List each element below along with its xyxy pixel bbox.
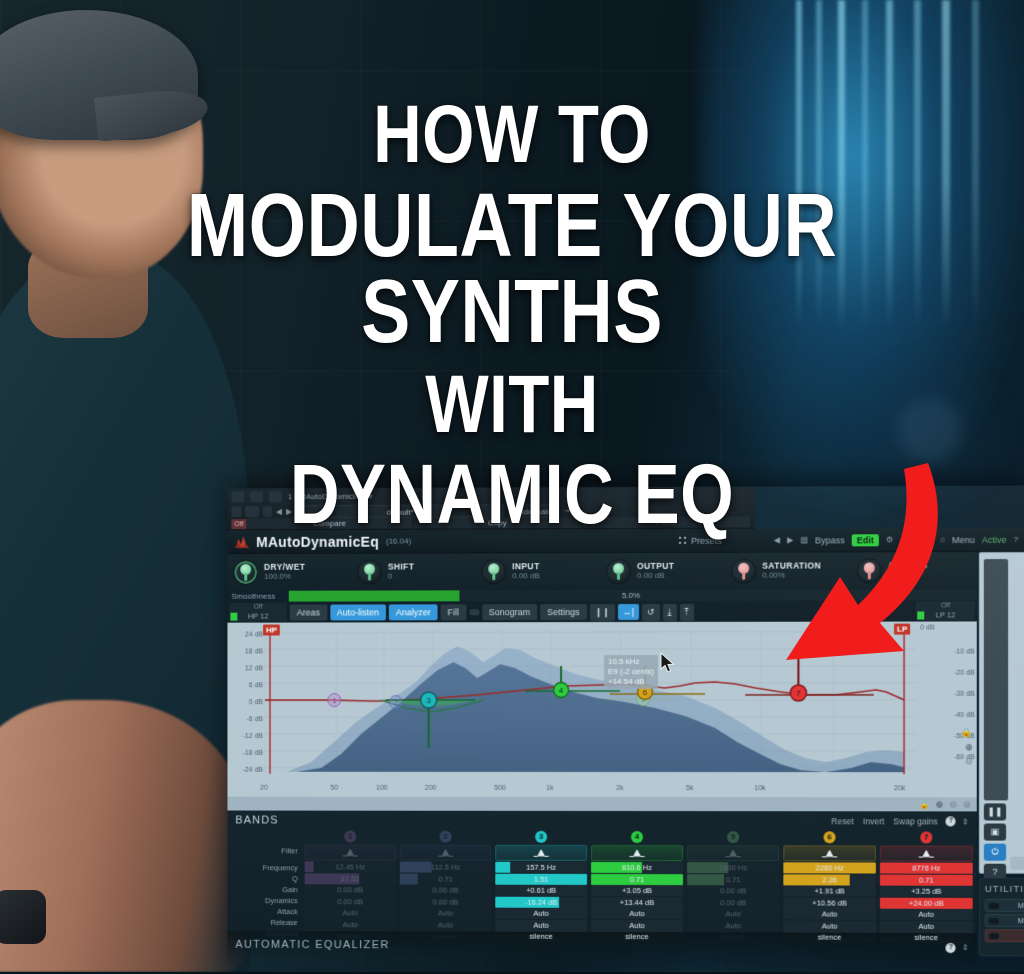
mod-1-label: Mod 1 bbox=[999, 901, 1024, 910]
swap-gains-button[interactable]: Swap gains bbox=[893, 816, 937, 826]
db-label: 18 dB bbox=[229, 643, 263, 660]
band-3-frequency-value: 157.5 Hz bbox=[526, 863, 556, 872]
band-4-number[interactable]: 4 bbox=[631, 831, 643, 843]
band-5-gain[interactable]: 0.00 dB bbox=[687, 885, 779, 896]
band-5-frequency-value: 1500 Hz bbox=[719, 863, 747, 872]
knob-cell-input[interactable]: INPUT 0.00 dB bbox=[475, 559, 600, 584]
band-5-dynamics[interactable]: 0.00 dB bbox=[687, 897, 779, 908]
band-2-dynamics[interactable]: 0.00 dB bbox=[400, 896, 491, 907]
tooltip-frequency: 10.5 kHz bbox=[608, 657, 654, 667]
sidechain-button[interactable]: Sidechain bbox=[509, 504, 560, 517]
lock-toggle[interactable] bbox=[989, 933, 999, 939]
db-label: -6 dB bbox=[229, 711, 263, 728]
row-label-frequency: Frequency bbox=[229, 862, 302, 873]
highpass-slope[interactable]: HP 12 bbox=[229, 612, 286, 622]
band-1-release[interactable]: Auto bbox=[305, 919, 396, 930]
automation-off-badge[interactable]: Off bbox=[231, 519, 246, 530]
band-2-attack[interactable]: Auto bbox=[400, 907, 491, 918]
hp-badge[interactable]: HP bbox=[263, 625, 280, 636]
utilities-header: UTILITIES Map ? ⇕ bbox=[985, 883, 1024, 897]
band-7-gain-value: +3.25 dB bbox=[911, 887, 942, 896]
band-3-number[interactable]: 3 bbox=[535, 831, 547, 843]
lowpass-control[interactable]: Off LP 12 bbox=[916, 601, 975, 621]
grid-icon bbox=[678, 536, 687, 545]
db-label: -10 dB bbox=[944, 642, 974, 663]
input-label: INPUT bbox=[512, 562, 539, 572]
band-4-release-value: Auto bbox=[629, 921, 644, 930]
shift-value: 0 bbox=[388, 572, 414, 581]
band-column-7[interactable]: 78776 Hz0.71+3.25 dB+24.00 dBAutoAutosil… bbox=[878, 831, 975, 943]
right-scale-0db: 0 dB bbox=[920, 625, 935, 632]
presets-label: Presets bbox=[691, 535, 722, 545]
analyzer-button[interactable]: Analyzer bbox=[389, 604, 438, 620]
band-2-number[interactable]: 2 bbox=[440, 831, 452, 843]
db-label: -18 dB bbox=[229, 745, 263, 762]
band-column-5[interactable]: 51500 Hz0.710.00 dB0.00 dBAutoAutosilenc… bbox=[685, 831, 781, 943]
compare-button[interactable]: Compare bbox=[246, 518, 413, 530]
bands-panel: BANDS Reset Invert Swap gains ? ⇕ Filter… bbox=[227, 811, 976, 934]
band-columns: 112.45 Hz87.530.00 dB0.00 dBAutoAutosile… bbox=[303, 831, 975, 944]
freq-label: 5k bbox=[686, 785, 693, 792]
input-knob[interactable] bbox=[481, 559, 506, 584]
bands-title: BANDS bbox=[235, 815, 278, 827]
saturation-value: 0.00% bbox=[762, 571, 821, 580]
lock-label: Lock bbox=[999, 931, 1024, 941]
band-4-filter-type[interactable] bbox=[591, 845, 683, 861]
active-status: Active bbox=[982, 534, 1007, 544]
meter-range-arrows-left[interactable]: ‹ › bbox=[1010, 857, 1024, 870]
band-3-release-value: Auto bbox=[533, 920, 548, 929]
db-label: 12 dB bbox=[229, 660, 263, 677]
highpass-slope-label: HP 12 bbox=[248, 612, 268, 621]
utilities-panel: UTILITIES Map ? ⇕ Mod 1 ☰ Mod 2 ☰ bbox=[979, 878, 1024, 957]
daw-track-title: 1 - MAutoDynamicEq bbox=[288, 491, 363, 500]
analyzer-settings-button[interactable]: Settings bbox=[540, 604, 586, 620]
lowpass-slope[interactable]: LP 12 bbox=[916, 610, 975, 620]
band-7-attack[interactable]: Auto bbox=[880, 909, 973, 920]
band-1-frequency[interactable]: 12.45 Hz bbox=[305, 861, 396, 872]
band-4-frequency-value: 810.6 Hz bbox=[622, 863, 652, 872]
plugin-footer: AUTOMATIC EQUALIZER ? ⇕ bbox=[227, 931, 976, 973]
bypass-button[interactable]: Bypass bbox=[815, 535, 845, 545]
analog-knob[interactable] bbox=[857, 558, 882, 583]
db-label: 24 dB bbox=[229, 627, 263, 644]
saturation-knob[interactable] bbox=[731, 558, 756, 583]
band-7-gain[interactable]: +3.25 dB bbox=[880, 886, 973, 897]
band-3-q[interactable]: 1.51 bbox=[495, 873, 587, 884]
bands-grid: Filter Frequency Q Gain Dynamics Attack … bbox=[227, 830, 976, 943]
band-column-1[interactable]: 112.45 Hz87.530.00 dB0.00 dBAutoAutosile… bbox=[303, 831, 398, 942]
band-6-frequency[interactable]: 2280 Hz bbox=[783, 862, 876, 873]
sidechain-route-icon[interactable]: ⇥| bbox=[564, 506, 573, 515]
band-1-dynamics[interactable]: 0.00 dB bbox=[305, 896, 396, 907]
plugin-version: (16.04) bbox=[386, 537, 411, 546]
band-4-q-value: 0.71 bbox=[630, 875, 645, 884]
band-5-release[interactable]: Auto bbox=[687, 920, 779, 931]
knob-cell-shift[interactable]: SHIFT 0 bbox=[351, 559, 475, 584]
svg-text:6: 6 bbox=[643, 688, 648, 697]
band-1-release-value: Auto bbox=[343, 920, 358, 929]
freq-label: 2k bbox=[616, 785, 623, 792]
band-5-dynamics-value: 0.00 dB bbox=[720, 898, 746, 907]
band-5-release-value: Auto bbox=[725, 921, 740, 930]
headphone-icon[interactable] bbox=[245, 506, 259, 517]
row-label-release: Release bbox=[229, 917, 302, 928]
areas-button[interactable]: Areas bbox=[290, 605, 327, 621]
page-icon[interactable] bbox=[263, 506, 272, 517]
band-1-filter-type[interactable] bbox=[305, 844, 396, 860]
smoothness-label: Smoothness bbox=[227, 592, 288, 601]
edit-button[interactable]: Edit bbox=[852, 534, 879, 546]
plugin-header: MAutoDynamicEq (16.04) Presets ◀ ▶ ▨ Byp… bbox=[227, 528, 1024, 554]
reset-button[interactable]: Reset bbox=[831, 816, 853, 826]
lowpass-off-label[interactable]: Off bbox=[916, 601, 975, 610]
row-label-dynamics: Dynamics bbox=[229, 895, 302, 906]
power-icon[interactable]: ⏻ bbox=[984, 844, 1006, 861]
band-6-release[interactable]: Auto bbox=[783, 920, 876, 931]
collapse-toggle-icon[interactable]: ⇕ bbox=[962, 817, 969, 826]
band-3-gain-value: +0.61 dB bbox=[526, 886, 556, 895]
band-3-attack[interactable]: Auto bbox=[495, 908, 587, 919]
footer-title: AUTOMATIC EQUALIZER bbox=[235, 939, 389, 951]
sonogram-button[interactable]: Sonogram bbox=[482, 604, 537, 620]
band-4-attack-value: Auto bbox=[629, 909, 644, 918]
input-value: 0.00 dB bbox=[512, 571, 539, 580]
band-5-filter-type[interactable] bbox=[687, 845, 779, 861]
band-3-filter-type[interactable] bbox=[495, 845, 587, 861]
mod-3-button[interactable]: Mod 3 ☰ bbox=[985, 914, 1024, 927]
lock-button[interactable]: Lock ☰ bbox=[985, 929, 1024, 943]
zoom-in-icon[interactable]: ⊕ bbox=[965, 742, 973, 753]
highpass-off-label[interactable]: Off bbox=[229, 603, 286, 612]
bands-row-labels: Filter Frequency Q Gain Dynamics Attack … bbox=[229, 830, 302, 941]
band-7-threshold-value: silence bbox=[915, 933, 939, 942]
copy-button[interactable]: Copy bbox=[414, 517, 582, 529]
dry-wet-knob[interactable] bbox=[233, 559, 258, 584]
band-3-q-value: 1.51 bbox=[534, 874, 549, 883]
back-arrow-icon[interactable] bbox=[231, 491, 244, 502]
modulator-grid: Mod 1 ☰ Mod 2 ☰ Mod 3 ☰ bbox=[985, 899, 1024, 945]
in-meter-value: -14.6 bbox=[1020, 846, 1024, 856]
shift-knob[interactable] bbox=[357, 559, 382, 584]
zoom-in-icon[interactable]: ⊕ bbox=[936, 799, 944, 810]
band-4-dynamics[interactable]: +13.44 dB bbox=[591, 896, 683, 907]
band-3-dynamics-value: -16.24 dB bbox=[525, 897, 557, 906]
band-4-gain-value: +3.05 dB bbox=[622, 886, 652, 895]
band-3-dynamics[interactable]: -16.24 dB bbox=[495, 896, 587, 907]
band-1-gain-value: 0.00 dB bbox=[337, 885, 363, 894]
db-label: -12 dB bbox=[229, 728, 263, 745]
band-column-6[interactable]: 62280 Hz2.26+1.91 dB+10.56 dBAutoAutosil… bbox=[781, 831, 878, 943]
band-7-q-value: 0.71 bbox=[919, 875, 934, 884]
band-3-release[interactable]: Auto bbox=[495, 919, 587, 930]
band-1-dynamics-value: 0.00 dB bbox=[337, 897, 363, 906]
db-label: 0 dB bbox=[229, 694, 263, 711]
plugin-title: MAutoDynamicEq bbox=[256, 533, 379, 549]
band-6-number[interactable]: 6 bbox=[824, 831, 836, 843]
band-4-gain[interactable]: +3.05 dB bbox=[591, 885, 683, 896]
utilities-arrows[interactable]: ‹ › bbox=[985, 946, 1024, 956]
highpass-control[interactable]: Off HP 12 bbox=[229, 603, 286, 623]
band-2-frequency-value: 112.5 Hz bbox=[431, 863, 460, 872]
freq-label: 100 bbox=[376, 785, 388, 792]
row-label-gain: Gain bbox=[229, 884, 302, 895]
band-column-3[interactable]: 3157.5 Hz1.51+0.61 dB-16.24 dBAutoAutosi… bbox=[493, 831, 589, 943]
dry-wet-label: DRY/WET bbox=[264, 562, 305, 572]
lp-badge[interactable]: LP bbox=[894, 624, 910, 635]
band-6-dynamics-value: +10.56 dB bbox=[812, 898, 847, 907]
gear-icon[interactable]: ⚙ bbox=[886, 535, 893, 544]
import-icon[interactable]: ⤓ bbox=[663, 603, 677, 620]
band-6-q[interactable]: 2.26 bbox=[783, 874, 876, 885]
band-1-q[interactable]: 87.53 bbox=[305, 873, 396, 884]
help-icon[interactable]: ? bbox=[1014, 535, 1019, 544]
smoothness-value: 5.0% bbox=[289, 589, 977, 601]
mouse-cursor bbox=[660, 652, 676, 674]
meter-side-buttons: ❚❚ ▣ ⏻ ? bbox=[984, 559, 1008, 867]
eq-graph[interactable]: 3 1 2 4 5 6 7 bbox=[227, 621, 976, 797]
meters-panel: ❚❚ ▣ ⏻ ? In Side Width 0 -10 -20 -30 -40… bbox=[979, 552, 1024, 875]
svg-text:2: 2 bbox=[394, 698, 398, 707]
mod-3-label: Mod 3 bbox=[999, 916, 1024, 925]
daw-host-toolbar: 1 - MAutoDynamicEq ▾ ◀ ▶ default* ▾ Side… bbox=[227, 487, 755, 531]
preset-prev-button[interactable]: ◀ bbox=[774, 536, 780, 545]
db-label: -24 dB bbox=[229, 762, 263, 779]
plugin-window: 1 - MAutoDynamicEq ▾ ◀ ▶ default* ▾ Side… bbox=[227, 486, 1024, 974]
home-icon[interactable]: ⌂ bbox=[940, 535, 945, 544]
band-7-release-value: Auto bbox=[919, 921, 935, 930]
lowpass-enable-toggle[interactable] bbox=[917, 611, 924, 619]
band-5-gain-value: 0.00 dB bbox=[720, 886, 746, 895]
knob-cell-saturation[interactable]: SATURATION 0.00% bbox=[725, 558, 851, 583]
svg-text:1: 1 bbox=[332, 696, 336, 705]
power-icon[interactable] bbox=[250, 491, 263, 502]
paste-button[interactable]: Paste bbox=[582, 517, 751, 530]
db-label: -40 dB bbox=[944, 705, 974, 726]
routing-icon[interactable] bbox=[269, 491, 282, 502]
zoom-out-icon[interactable]: ⊖ bbox=[965, 756, 973, 767]
band-7-number[interactable]: 7 bbox=[920, 831, 932, 843]
band-1-frequency-value: 12.45 Hz bbox=[335, 862, 365, 871]
light-bars bbox=[790, 0, 1024, 330]
link-icon[interactable] bbox=[231, 506, 241, 517]
band-7-q[interactable]: 0.71 bbox=[880, 874, 973, 885]
graph-zoom-bar[interactable]: 🔒 ⊕ ⊖ ⊜ bbox=[227, 797, 976, 812]
band-3-threshold-value: silence bbox=[529, 932, 552, 941]
freq-label: 20 bbox=[260, 785, 268, 792]
band-column-2[interactable]: 2112.5 Hz0.710.00 dB0.00 dBAutoAutosilen… bbox=[398, 831, 493, 942]
band-4-dynamics-value: +13.44 dB bbox=[620, 897, 654, 906]
band-1-number[interactable]: 1 bbox=[344, 831, 356, 843]
band-7-dynamics-value: +24.00 dB bbox=[909, 898, 944, 907]
left-db-scale: 24 dB 18 dB 12 dB 6 dB 0 dB -6 dB -12 dB… bbox=[229, 627, 263, 779]
mod-1-toggle[interactable] bbox=[989, 902, 999, 908]
knob-cell-dry-wet[interactable]: DRY/WET 100.0% bbox=[227, 559, 351, 584]
preset-next-button[interactable]: ▶ bbox=[787, 536, 793, 545]
pause-icon[interactable]: ❚❚ bbox=[984, 803, 1006, 820]
band-6-gain[interactable]: +1.91 dB bbox=[783, 885, 876, 896]
band-2-filter-type[interactable] bbox=[400, 845, 491, 861]
screenshot-icon[interactable]: ▣ bbox=[984, 824, 1006, 841]
dry-wet-value: 100.0% bbox=[264, 572, 305, 581]
freq-label: 20k bbox=[894, 785, 905, 792]
band-2-q-value: 0.71 bbox=[438, 874, 453, 883]
band-tooltip: 10.5 kHz E9 (-2 cents) +14.54 dB bbox=[604, 655, 658, 689]
presets-button[interactable]: Presets bbox=[678, 535, 722, 545]
db-label: 6 dB bbox=[229, 677, 263, 694]
band-4-threshold-value: silence bbox=[625, 932, 648, 941]
mod-3-toggle[interactable] bbox=[989, 918, 999, 924]
band-2-frequency[interactable]: 112.5 Hz bbox=[400, 862, 491, 873]
frequency-axis: 20 50 100 200 500 1k 2k 5k 10k 20k bbox=[227, 785, 916, 797]
invert-button[interactable]: Invert bbox=[863, 816, 884, 826]
global-knobs-strip: DRY/WET 100.0% SHIFT 0 INPUT 0.00 dB OUT… bbox=[227, 552, 976, 590]
wristwatch bbox=[0, 890, 46, 944]
band-3-frequency[interactable]: 157.5 Hz bbox=[495, 862, 587, 873]
reset-icon[interactable]: ↺ bbox=[642, 603, 660, 620]
saturation-label: SATURATION bbox=[762, 561, 821, 571]
band-6-threshold-value: silence bbox=[818, 933, 841, 942]
band-6-gain-value: +1.91 dB bbox=[814, 886, 844, 895]
prev-preset-button[interactable]: ◀ bbox=[276, 507, 282, 516]
band-4-attack[interactable]: Auto bbox=[591, 908, 683, 919]
band-1-attack-value: Auto bbox=[343, 908, 358, 917]
chevron-down-icon[interactable]: ▾ bbox=[369, 491, 373, 500]
analog-value: 0.00% bbox=[888, 571, 928, 580]
freq-label: 1k bbox=[546, 785, 553, 792]
smoothness-slider[interactable]: 5.0% bbox=[289, 589, 977, 601]
band-7-filter-type[interactable] bbox=[880, 845, 973, 861]
freq-label: 10k bbox=[754, 785, 765, 792]
meldaproduction-logo-icon bbox=[235, 535, 249, 548]
band-1-attack[interactable]: Auto bbox=[305, 907, 396, 918]
freq-label: 200 bbox=[425, 785, 437, 792]
highpass-enable-toggle[interactable] bbox=[230, 613, 237, 621]
svg-text:7: 7 bbox=[796, 689, 801, 698]
collapse-toggle-icon[interactable]: ⇕ bbox=[962, 943, 969, 952]
svg-text:3: 3 bbox=[426, 697, 431, 706]
svg-text:4: 4 bbox=[559, 686, 564, 695]
eq-graph-svg[interactable]: 3 1 2 4 5 6 7 bbox=[227, 621, 976, 797]
help-icon[interactable]: ? bbox=[946, 816, 956, 826]
settings-button[interactable]: Settings bbox=[900, 535, 933, 545]
band-1-q-value: 87.53 bbox=[341, 874, 360, 883]
band-5-q-value: 0.71 bbox=[726, 875, 741, 884]
freq-label: 500 bbox=[494, 785, 506, 792]
mod-1-button[interactable]: Mod 1 ☰ bbox=[985, 899, 1024, 912]
bands-header: BANDS Reset Invert Swap gains ? ⇕ bbox=[227, 811, 976, 832]
output-label: OUTPUT bbox=[637, 561, 674, 571]
next-preset-button[interactable]: ▶ bbox=[286, 507, 292, 516]
preset-selector[interactable]: default* ▾ bbox=[296, 504, 505, 518]
band-6-attack[interactable]: Auto bbox=[783, 908, 876, 919]
analyzer-toolbar: Off HP 12 Areas Auto-listen Analyzer Fil… bbox=[227, 601, 976, 622]
band-1-gain[interactable]: 0.00 dB bbox=[305, 884, 396, 895]
band-5-attack-value: Auto bbox=[725, 909, 740, 918]
band-5-attack[interactable]: Auto bbox=[687, 908, 779, 919]
band-4-frequency[interactable]: 810.6 Hz bbox=[591, 862, 683, 873]
band-5-frequency[interactable]: 1500 Hz bbox=[687, 862, 779, 873]
band-2-q[interactable]: 0.71 bbox=[400, 873, 491, 884]
export-icon[interactable]: ⤒ bbox=[680, 603, 694, 620]
db-label: -30 dB bbox=[944, 684, 974, 705]
fill-button[interactable]: Fill bbox=[441, 604, 466, 620]
lock-icon[interactable]: 🔒 bbox=[920, 800, 930, 809]
output-knob[interactable] bbox=[606, 558, 631, 583]
collapse-icon[interactable]: ↔| bbox=[618, 604, 639, 620]
zoom-reset-icon[interactable]: ⊜ bbox=[963, 799, 971, 810]
freq-label: 50 bbox=[330, 785, 338, 792]
utilities-title: UTILITIES bbox=[985, 884, 1024, 895]
tooltip-gain: +14.54 dB bbox=[608, 677, 654, 687]
pause-icon[interactable]: ❙❙ bbox=[590, 604, 615, 621]
zoom-out-icon[interactable]: ⊖ bbox=[949, 799, 957, 810]
band-6-frequency-value: 2280 Hz bbox=[816, 863, 844, 872]
knob-cell-analog[interactable]: ANALOG 0.00% bbox=[851, 558, 977, 583]
band-4-release[interactable]: Auto bbox=[591, 919, 683, 930]
row-label-filter: Filter bbox=[229, 845, 302, 862]
color-scheme-button[interactable] bbox=[469, 609, 479, 615]
db-label: -20 dB bbox=[944, 663, 974, 684]
meter-headers: In Side Width bbox=[1014, 555, 1024, 569]
preset-name: default* bbox=[387, 507, 414, 516]
lock-icon[interactable]: 🔒 bbox=[961, 727, 972, 738]
band-7-frequency[interactable]: 8776 Hz bbox=[880, 863, 973, 874]
band-3-gain[interactable]: +0.61 dB bbox=[495, 885, 587, 896]
meter-gr-slot bbox=[984, 559, 1008, 800]
band-2-release-value: Auto bbox=[438, 920, 453, 929]
row-label-attack: Attack bbox=[229, 906, 302, 917]
band-6-attack-value: Auto bbox=[822, 910, 838, 919]
band-7-release[interactable]: Auto bbox=[880, 920, 973, 931]
analog-label: ANALOG bbox=[888, 561, 928, 571]
help-icon[interactable]: ? bbox=[946, 943, 956, 953]
band-2-dynamics-value: 0.00 dB bbox=[433, 897, 459, 906]
band-7-attack-value: Auto bbox=[919, 910, 935, 919]
lowpass-slope-label: LP 12 bbox=[936, 610, 956, 619]
band-5-q[interactable]: 0.71 bbox=[687, 874, 779, 885]
band-7-frequency-value: 8776 Hz bbox=[912, 864, 940, 873]
band-3-attack-value: Auto bbox=[533, 909, 548, 918]
auto-listen-button[interactable]: Auto-listen bbox=[330, 604, 386, 620]
menu-button[interactable]: Menu bbox=[952, 534, 975, 544]
preset-random-icon[interactable]: ▨ bbox=[800, 535, 808, 544]
chevron-down-icon: ▾ bbox=[496, 506, 500, 519]
knob-cell-output[interactable]: OUTPUT 0.00 dB bbox=[600, 558, 725, 583]
band-4-q[interactable]: 0.71 bbox=[591, 873, 683, 884]
band-2-gain[interactable]: 0.00 dB bbox=[400, 884, 491, 895]
band-column-4[interactable]: 4810.6 Hz0.71+3.05 dB+13.44 dBAutoAutosi… bbox=[589, 831, 685, 943]
row-label-q: Q bbox=[229, 873, 302, 884]
band-6-filter-type[interactable] bbox=[783, 845, 876, 861]
output-value: 0.00 dB bbox=[637, 571, 674, 580]
band-2-attack-value: Auto bbox=[438, 908, 453, 917]
band-5-number[interactable]: 5 bbox=[727, 831, 739, 843]
band-2-gain-value: 0.00 dB bbox=[433, 886, 459, 895]
tooltip-note: E9 (-2 cents) bbox=[608, 667, 654, 677]
band-6-release-value: Auto bbox=[822, 921, 838, 930]
shift-label: SHIFT bbox=[388, 562, 414, 572]
band-2-release[interactable]: Auto bbox=[400, 919, 491, 930]
band-7-dynamics[interactable]: +24.00 dB bbox=[880, 897, 973, 908]
band-6-dynamics[interactable]: +10.56 dB bbox=[783, 897, 876, 908]
band-6-q-value: 2.26 bbox=[822, 875, 837, 884]
